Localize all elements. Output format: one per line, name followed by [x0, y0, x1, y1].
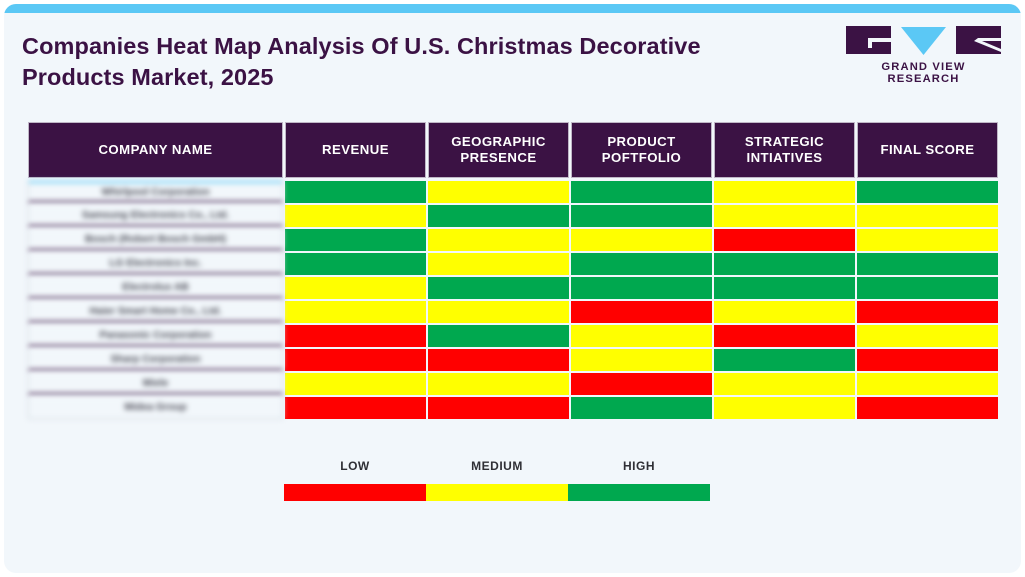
heatmap-cell: [428, 301, 569, 323]
heatmap-cell: [857, 325, 998, 347]
legend-labels: LOW MEDIUM HIGH: [284, 459, 710, 473]
heatmap-cell: [571, 277, 712, 299]
heatmap-cell: [285, 349, 426, 371]
heatmap-cell: [285, 301, 426, 323]
column-header-strategic-initiatives: STRATEGIC INTIATIVES: [714, 122, 855, 178]
table-header-row: COMPANY NAME REVENUE GEOGRAPHIC PRESENCE…: [28, 122, 998, 178]
column-header-geographic-presence: GEOGRAPHIC PRESENCE: [428, 122, 569, 178]
heatmap-cell: [857, 205, 998, 227]
gvr-logo-icon: [846, 24, 1001, 58]
company-name-cell: Panasonic Corporation: [28, 325, 283, 347]
heatmap-cell: [285, 229, 426, 251]
heatmap-cell: [571, 301, 712, 323]
heatmap-cell: [714, 349, 855, 371]
heatmap-cell: [285, 277, 426, 299]
heatmap-cell: [285, 325, 426, 347]
table-body: Whirlpool CorporationSamsung Electronics…: [28, 181, 998, 419]
heatmap-cell: [571, 349, 712, 371]
heatmap-cell: [428, 277, 569, 299]
table-row: Electrolux AB: [28, 277, 998, 299]
accent-top-bar: [4, 4, 1021, 13]
heatmap-cell: [714, 301, 855, 323]
heatmap-cell: [857, 349, 998, 371]
legend-label-medium: MEDIUM: [426, 459, 568, 473]
table-row: Sharp Corporation: [28, 349, 998, 371]
heatmap-cell: [714, 397, 855, 419]
heatmap-cell: [857, 181, 998, 203]
company-name-cell: Whirlpool Corporation: [28, 181, 283, 203]
legend: LOW MEDIUM HIGH: [284, 459, 710, 501]
company-name-cell: Miele: [28, 373, 283, 395]
heatmap-cell: [857, 397, 998, 419]
report-card: Companies Heat Map Analysis Of U.S. Chri…: [4, 4, 1021, 573]
heatmap-cell: [428, 229, 569, 251]
heatmap-cell: [714, 253, 855, 275]
heatmap-cell: [714, 205, 855, 227]
heatmap-cell: [285, 205, 426, 227]
heatmap-cell: [571, 373, 712, 395]
heatmap-cell: [571, 397, 712, 419]
table-row: Midea Group: [28, 397, 998, 419]
company-name-cell: Haier Smart Home Co., Ltd.: [28, 301, 283, 323]
heatmap-cell: [571, 205, 712, 227]
heatmap-cell: [428, 373, 569, 395]
heatmap-cell: [714, 181, 855, 203]
company-name-cell: Samsung Electronics Co., Ltd.: [28, 205, 283, 227]
heatmap-cell: [285, 253, 426, 275]
column-header-revenue: REVENUE: [285, 122, 426, 178]
company-name-cell: LG Electronics Inc.: [28, 253, 283, 275]
heatmap-cell: [285, 373, 426, 395]
table-row: LG Electronics Inc.: [28, 253, 998, 275]
report-header: Companies Heat Map Analysis Of U.S. Chri…: [4, 13, 1021, 108]
heatmap-cell: [714, 373, 855, 395]
legend-swatch-high: [568, 484, 710, 501]
company-name-cell: Electrolux AB: [28, 277, 283, 299]
brand-logo-text: GRAND VIEW RESEARCH: [846, 61, 1001, 85]
company-name-cell: Bosch (Robert Bosch GmbH): [28, 229, 283, 251]
legend-swatch-medium: [426, 484, 568, 501]
heatmap-cell: [714, 325, 855, 347]
heatmap-cell: [857, 229, 998, 251]
table-row: Panasonic Corporation: [28, 325, 998, 347]
table-row: Miele: [28, 373, 998, 395]
legend-label-low: LOW: [284, 459, 426, 473]
heatmap-cell: [857, 373, 998, 395]
column-header-product-portfolio: PRODUCT POFTFOLIO: [571, 122, 712, 178]
company-name-cell: Midea Group: [28, 397, 283, 419]
table-row: Whirlpool Corporation: [28, 181, 998, 203]
legend-color-bar: [284, 484, 710, 501]
legend-label-high: HIGH: [568, 459, 710, 473]
heatmap-cell: [571, 229, 712, 251]
heatmap-cell: [857, 253, 998, 275]
heatmap-cell: [285, 181, 426, 203]
column-header-company-name: COMPANY NAME: [28, 122, 283, 178]
heatmap-table: COMPANY NAME REVENUE GEOGRAPHIC PRESENCE…: [28, 122, 998, 421]
heatmap-cell: [571, 253, 712, 275]
heatmap-cell: [428, 397, 569, 419]
company-name-cell: Sharp Corporation: [28, 349, 283, 371]
table-row: Haier Smart Home Co., Ltd.: [28, 301, 998, 323]
heatmap-cell: [428, 325, 569, 347]
heatmap-cell: [857, 277, 998, 299]
heatmap-cell: [714, 229, 855, 251]
table-row: Bosch (Robert Bosch GmbH): [28, 229, 998, 251]
page-title: Companies Heat Map Analysis Of U.S. Chri…: [22, 31, 722, 94]
heatmap-cell: [428, 181, 569, 203]
heatmap-cell: [428, 205, 569, 227]
heatmap-cell: [857, 301, 998, 323]
table-row: Samsung Electronics Co., Ltd.: [28, 205, 998, 227]
heatmap-cell: [571, 181, 712, 203]
heatmap-cell: [428, 349, 569, 371]
heatmap-cell: [285, 397, 426, 419]
brand-logo: GRAND VIEW RESEARCH: [846, 24, 1001, 80]
heatmap-cell: [428, 253, 569, 275]
column-header-final-score: FINAL SCORE: [857, 122, 998, 178]
heatmap-cell: [714, 277, 855, 299]
heatmap-cell: [571, 325, 712, 347]
legend-swatch-low: [284, 484, 426, 501]
